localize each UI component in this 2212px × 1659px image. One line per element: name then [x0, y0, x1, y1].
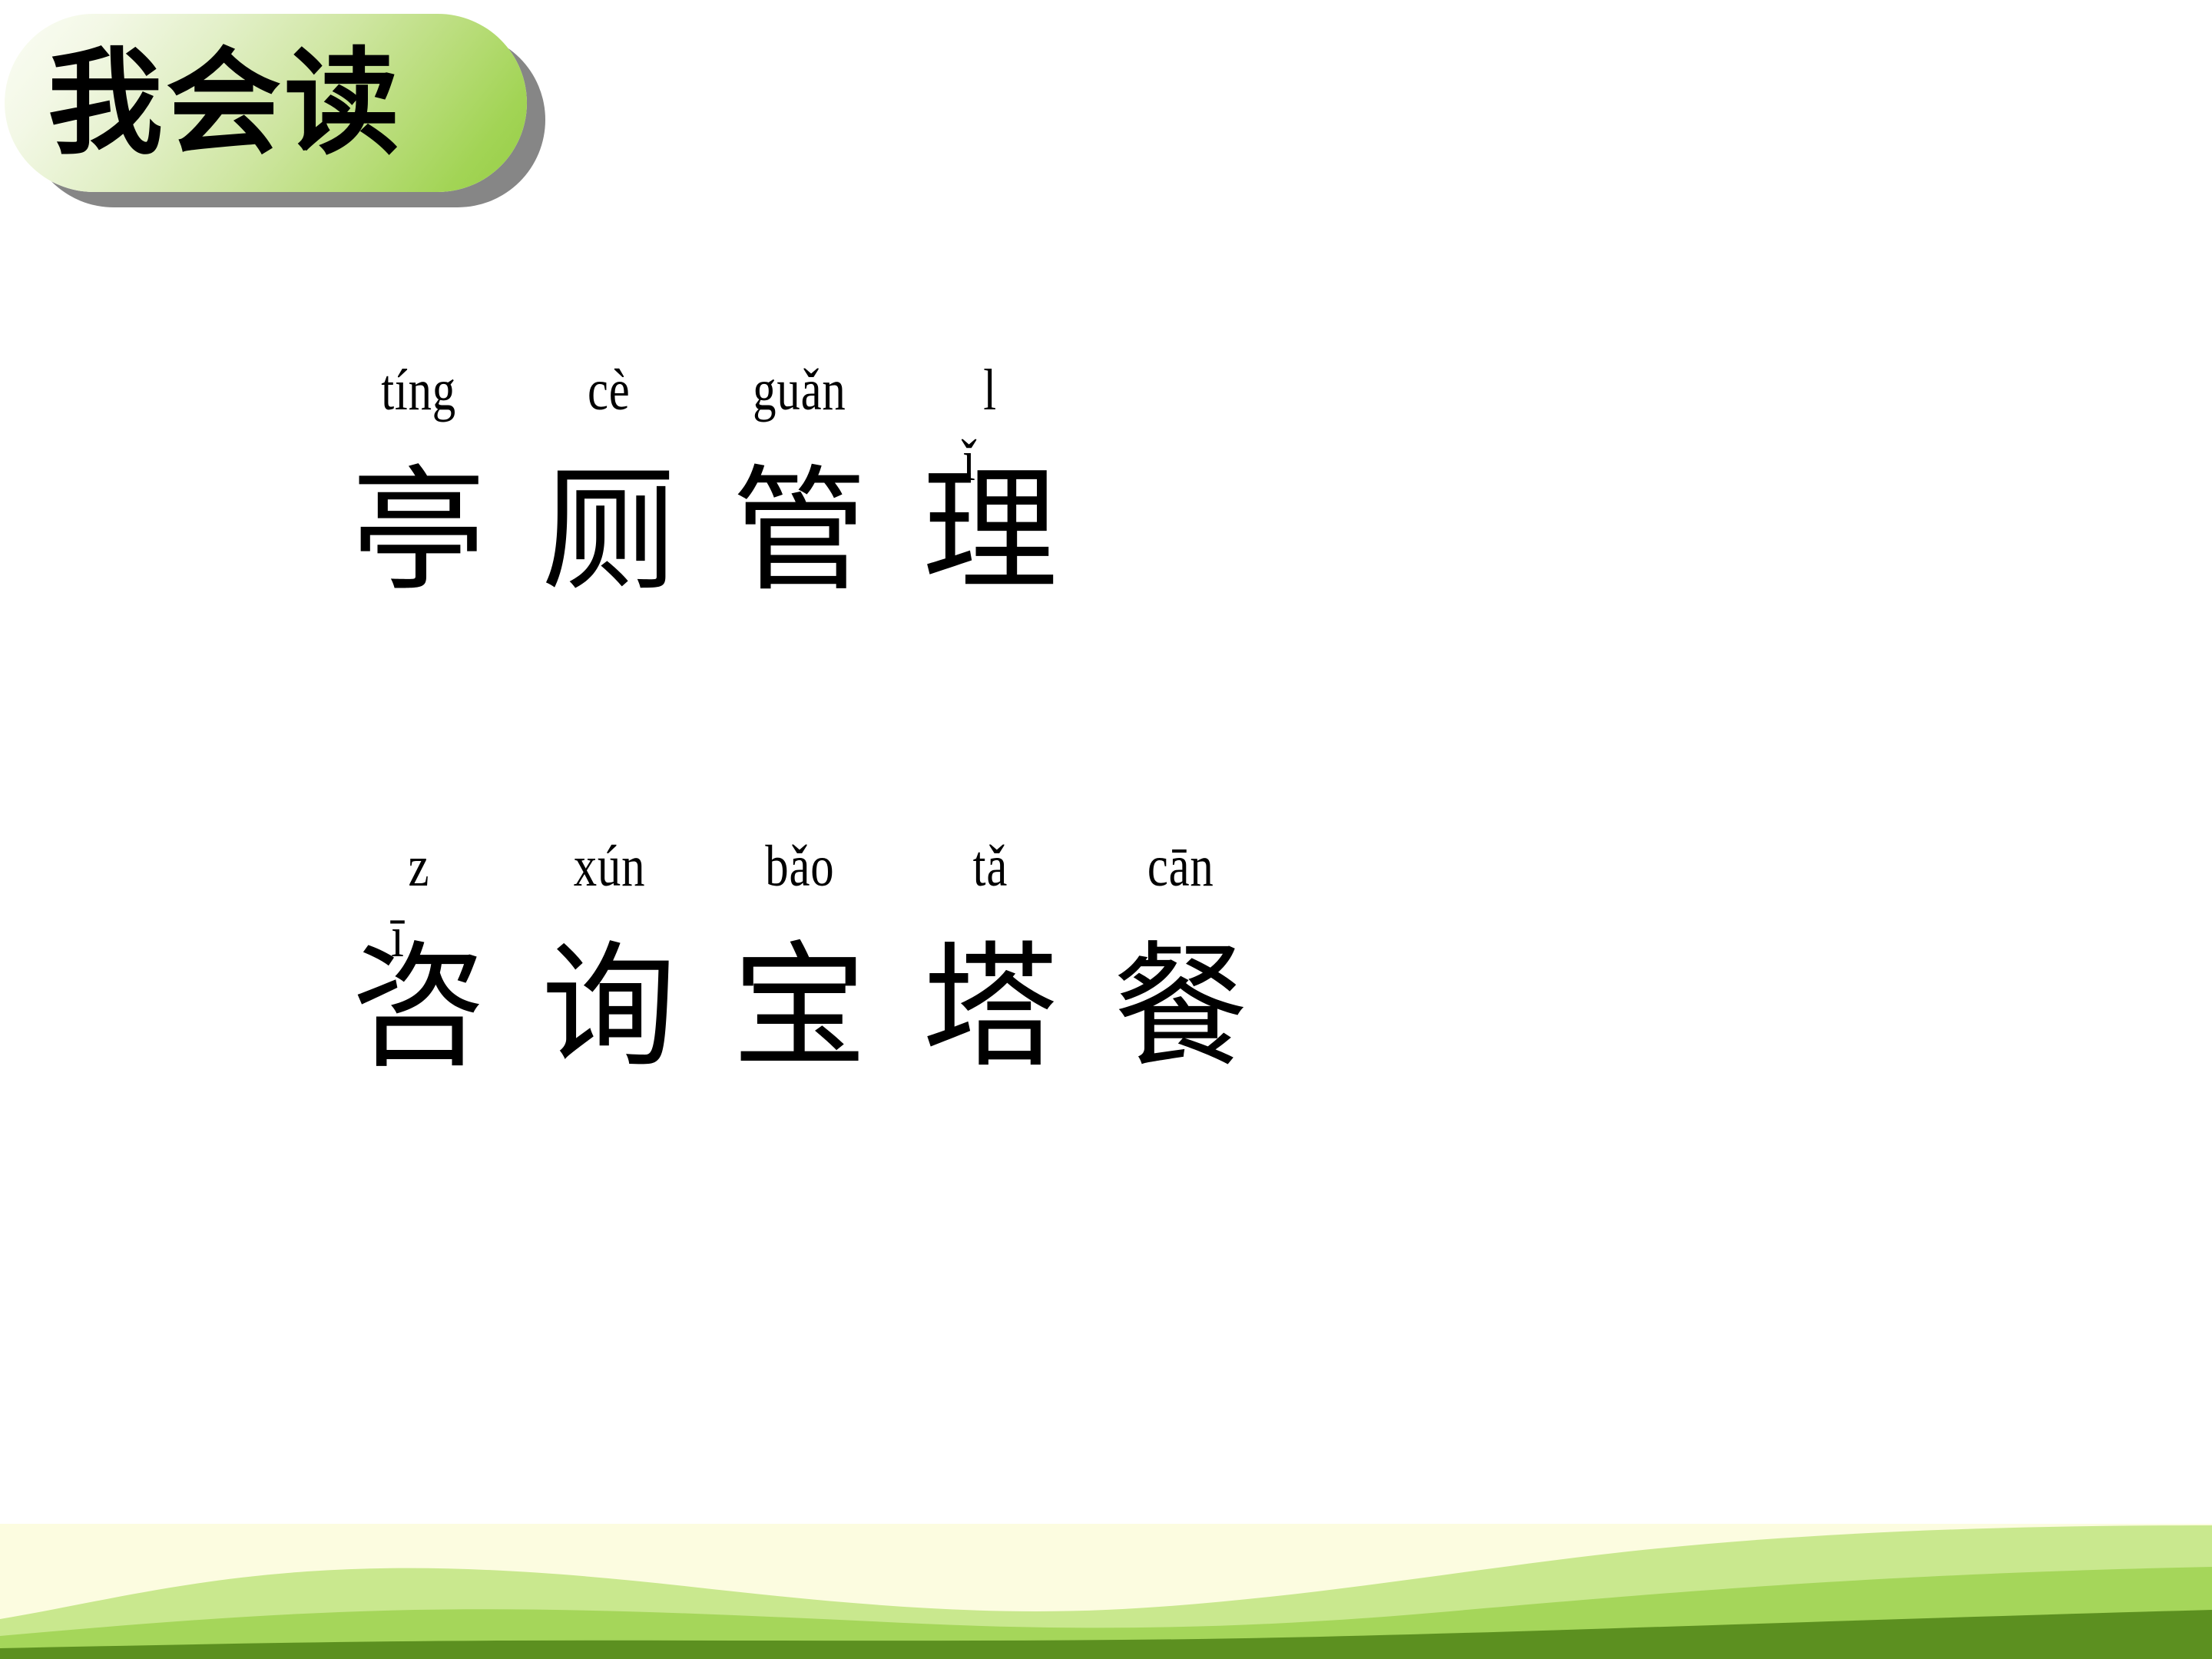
hanzi-guan: 管 [732, 461, 867, 603]
hanzi-ce: 厕 [541, 461, 677, 603]
pinyin-zi-line2: ī [391, 908, 404, 966]
bottom-decoration [0, 1524, 2212, 1659]
hanzi-xun: 询 [541, 937, 677, 1079]
pinyin-ce: cè [588, 361, 631, 427]
word-cell-can[interactable]: cān 餐 [1092, 837, 1269, 1079]
word-cell-guan[interactable]: guǎn 管 [711, 361, 888, 603]
pinyin-xun: xún [573, 837, 645, 903]
pinyin-ta: tǎ [972, 837, 1007, 903]
word-grid: tíng 亭 cè 厕 guǎn 管 l ǐ 理 z ī 咨 xún 询 bǎo [0, 0, 2212, 1459]
word-cell-li[interactable]: l ǐ 理 [902, 361, 1078, 603]
hanzi-bao: 宝 [732, 937, 867, 1079]
pinyin-guan: guǎn [753, 361, 846, 427]
pinyin-bao: bǎo [765, 837, 834, 903]
word-cell-xun[interactable]: xún 询 [521, 837, 697, 1079]
pinyin-zi-line1: z [408, 837, 429, 903]
hanzi-ting: 亭 [351, 461, 486, 603]
pinyin-li-line1: l [983, 361, 997, 427]
pinyin-ting: tíng [381, 361, 456, 427]
hanzi-ta: 塔 [922, 937, 1058, 1079]
hanzi-can: 餐 [1113, 937, 1248, 1079]
hanzi-zi: 咨 [351, 937, 486, 1079]
word-cell-ce[interactable]: cè 厕 [521, 361, 697, 603]
bottom-hills-svg [0, 1524, 2212, 1659]
pinyin-li-line2: ǐ [962, 432, 975, 490]
pinyin-can: cān [1147, 837, 1214, 903]
word-row-1: tíng 亭 cè 厕 guǎn 管 l ǐ 理 [330, 361, 1092, 603]
word-cell-bao[interactable]: bǎo 宝 [711, 837, 888, 1079]
word-row-2: z ī 咨 xún 询 bǎo 宝 tǎ 塔 cān 餐 [330, 837, 1283, 1079]
word-cell-zi[interactable]: z ī 咨 [330, 837, 507, 1079]
title-badge-label: 我会读 [48, 45, 402, 161]
word-cell-ting[interactable]: tíng 亭 [330, 361, 507, 603]
word-cell-ta[interactable]: tǎ 塔 [902, 837, 1078, 1079]
hanzi-li: 理 [922, 461, 1058, 603]
title-badge[interactable]: 我会读 [5, 14, 527, 192]
